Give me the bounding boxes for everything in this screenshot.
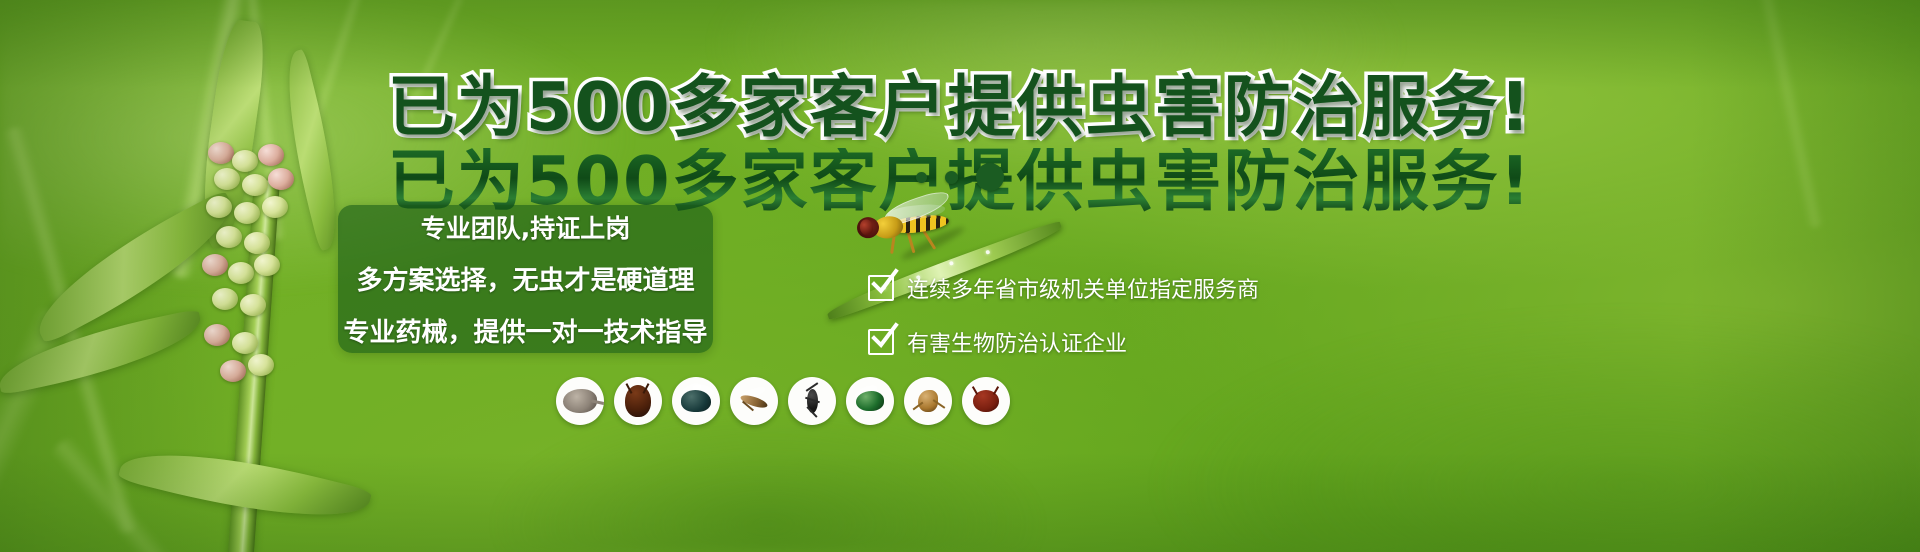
list-item: 有害生物防治认证企业 <box>868 326 1259 358</box>
flea-icon[interactable] <box>904 377 952 425</box>
checkbox-checked-icon <box>868 329 894 355</box>
dot-large <box>976 163 1004 191</box>
bedbug-icon[interactable] <box>962 377 1010 425</box>
credential-label: 有害生物防治认证企业 <box>907 326 1127 358</box>
feature-line-3: 专业药械，提供一对一技术指导 <box>343 312 707 349</box>
mouse-icon[interactable] <box>556 377 604 425</box>
promo-banner: 已为500多家客户提供虫害防治服务! 已为500多家客户提供虫害防治服务! 专业… <box>0 0 1920 552</box>
cockroach-icon[interactable] <box>614 377 662 425</box>
checkbox-checked-icon <box>868 275 894 301</box>
greenbottle-fly-icon[interactable] <box>846 377 894 425</box>
feature-line-1: 专业团队,持证上岗 <box>421 209 631 245</box>
feature-line-2: 多方案选择，无虫才是硬道理 <box>356 260 694 297</box>
list-item: 连续多年省市级机关单位指定服务商 <box>868 272 1259 304</box>
credential-label: 连续多年省市级机关单位指定服务商 <box>907 272 1259 304</box>
feature-panel: 专业团队,持证上岗 多方案选择，无虫才是硬道理 专业药械，提供一对一技术指导 <box>338 205 713 353</box>
credentials-list: 连续多年省市级机关单位指定服务商 有害生物防治认证企业 <box>868 272 1259 358</box>
headline-container: 已为500多家客户提供虫害防治服务! 已为500多家客户提供虫害防治服务! <box>0 74 1920 141</box>
ant-icon[interactable] <box>788 377 836 425</box>
housefly-icon[interactable] <box>672 377 720 425</box>
dot-small-left <box>916 172 927 183</box>
dot-medium <box>945 171 958 184</box>
pest-icon-row <box>556 377 1010 425</box>
decorative-dots <box>0 163 1920 191</box>
mosquito-icon[interactable] <box>730 377 778 425</box>
page-title-outline: 已为500多家客户提供虫害防治服务! <box>388 74 1532 141</box>
